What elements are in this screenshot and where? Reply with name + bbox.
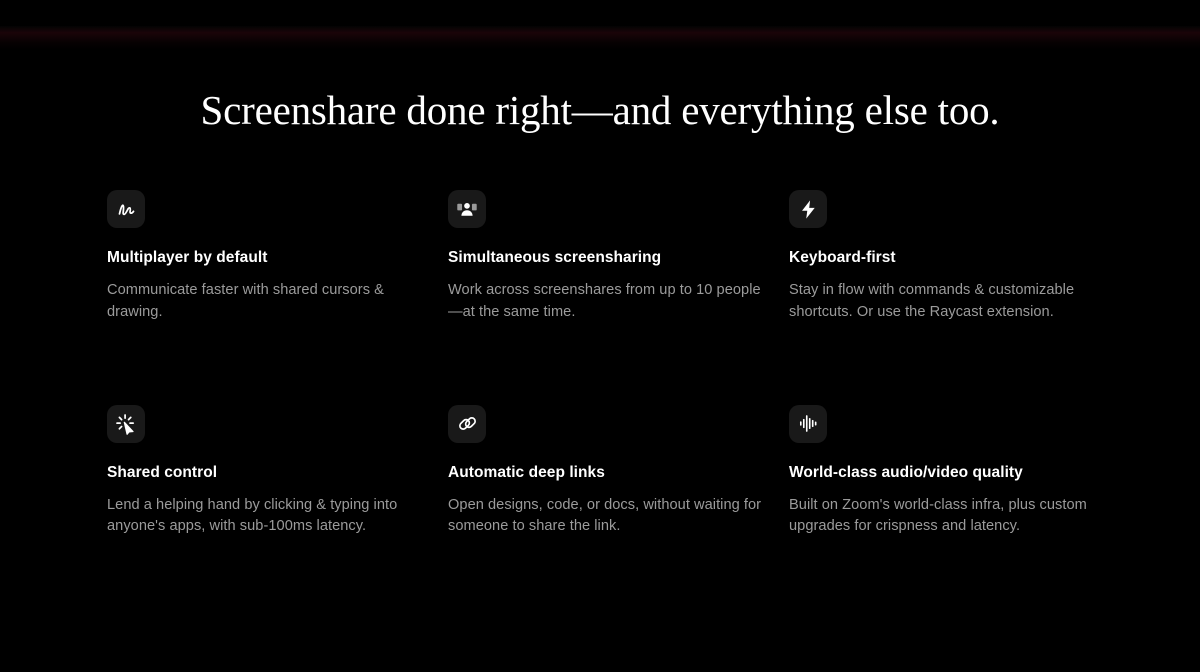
feature-title: Simultaneous screensharing [448,248,767,267]
feature-card-keyboard-first: Keyboard-first Stay in flow with command… [789,190,1117,323]
feature-title: World-class audio/video quality [789,463,1095,482]
feature-description: Stay in flow with commands & customizabl… [789,280,1095,322]
feature-title: Automatic deep links [448,463,767,482]
feature-description: Work across screenshares from up to 10 p… [448,280,763,322]
feature-card-automatic-deep-links: Automatic deep links Open designs, code,… [448,405,789,538]
audio-waveform-icon [789,405,827,443]
feature-card-multiplayer-by-default: Multiplayer by default Communicate faste… [107,190,448,323]
marketing-features-section: Screenshare done right—and everything el… [0,0,1200,672]
cursor-click-icon [107,405,145,443]
feature-title: Multiplayer by default [107,248,426,267]
feature-title: Keyboard-first [789,248,1095,267]
chain-link-icon [448,405,486,443]
lightning-bolt-icon [789,190,827,228]
feature-description: Built on Zoom's world-class infra, plus … [789,495,1095,537]
feature-card-simultaneous-screensharing: Simultaneous screensharing Work across s… [448,190,789,323]
feature-description: Open designs, code, or docs, without wai… [448,495,763,537]
feature-grid: Multiplayer by default Communicate faste… [107,190,1117,537]
feature-description: Communicate faster with shared cursors &… [107,280,422,322]
scribble-pen-stroke-icon [107,190,145,228]
page-title: Screenshare done right—and everything el… [0,86,1200,135]
feature-description: Lend a helping hand by clicking & typing… [107,495,422,537]
feature-card-shared-control: Shared control Lend a helping hand by cl… [107,405,448,538]
feature-title: Shared control [107,463,426,482]
feature-card-world-class-audio-video-quality: World-class audio/video quality Built on… [789,405,1117,538]
top-accent-band [0,26,1200,50]
person-with-screens-icon [448,190,486,228]
